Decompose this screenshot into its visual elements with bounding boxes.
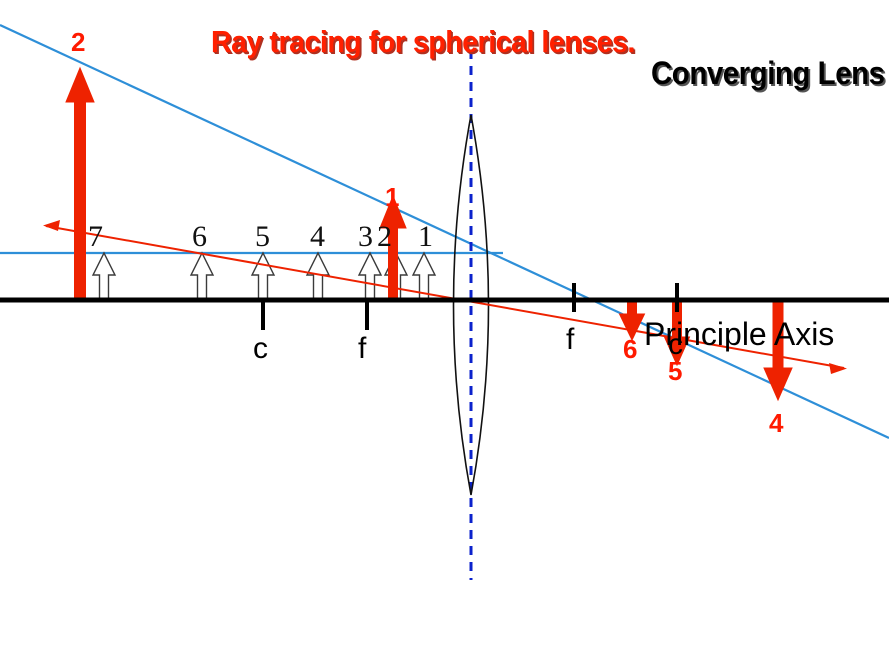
object-arrow-5 [252, 253, 274, 300]
object-arrow-6 [191, 253, 213, 300]
object-arrow-7 [93, 253, 115, 300]
axis-tick-label-f-right: f [566, 325, 574, 355]
image-label-1: 1 [385, 184, 399, 210]
image-label-2: 2 [71, 29, 85, 55]
image-label-4: 4 [769, 410, 783, 436]
principal-axis-label: Principle Axis [644, 318, 834, 350]
lens-type-title: Converging Lens [651, 55, 885, 92]
page-title: Ray tracing for spherical lenses. [211, 24, 635, 60]
object-label-1: 1 [418, 222, 433, 252]
object-label-7: 7 [88, 222, 103, 252]
diagram-canvas: Ray tracing for spherical lenses. Conver… [0, 0, 889, 667]
object-label-4: 4 [310, 222, 325, 252]
image-label-5: 5 [668, 358, 682, 384]
object-label-3: 3 [358, 222, 373, 252]
object-label-2: 2 [377, 222, 392, 252]
axis-tick-label-f-left: f [358, 334, 366, 364]
object-arrow-3 [359, 253, 381, 300]
axis-tick-label-c-left: c [253, 334, 268, 364]
image-label-6: 6 [623, 336, 637, 362]
red-ray-left-arrowhead [43, 220, 60, 231]
red-ray-right-arrowhead [829, 363, 847, 374]
object-label-6: 6 [192, 222, 207, 252]
image-arrow-2 [66, 68, 94, 302]
object-label-5: 5 [255, 222, 270, 252]
